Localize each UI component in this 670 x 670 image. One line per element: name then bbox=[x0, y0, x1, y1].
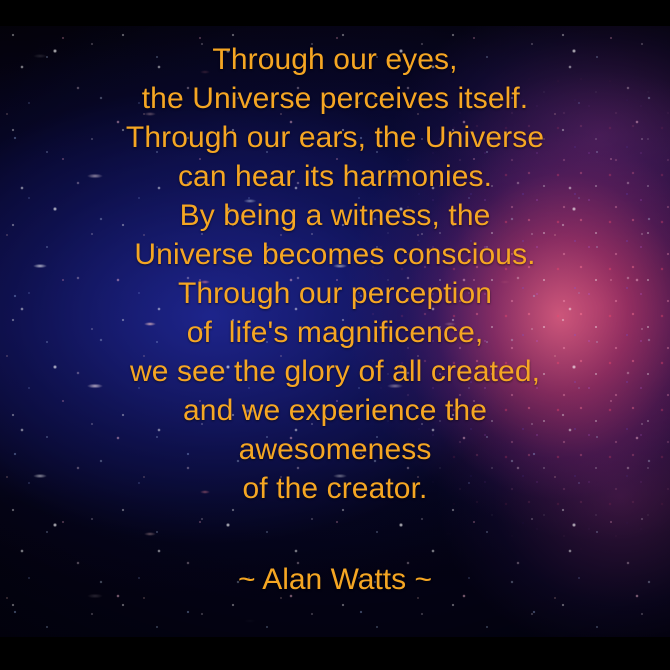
quote-line: we see the glory of all created, bbox=[0, 352, 670, 391]
quote-line: Through our perception bbox=[0, 274, 670, 313]
letterbox-bar-top bbox=[0, 0, 670, 26]
quote-line: of life's magnificence, bbox=[0, 313, 670, 352]
quote-attribution: ~ Alan Watts ~ bbox=[0, 560, 670, 599]
quote-line: Through our ears, the Universe bbox=[0, 118, 670, 157]
quote-line: awesomeness bbox=[0, 430, 670, 469]
letterbox-bar-bottom bbox=[0, 637, 670, 670]
quote-line: Universe becomes conscious. bbox=[0, 235, 670, 274]
quote-text-block: Through our eyes, the Universe perceives… bbox=[0, 40, 670, 508]
quote-line: of the creator. bbox=[0, 469, 670, 508]
quote-line: and we experience the bbox=[0, 391, 670, 430]
quote-line: By being a witness, the bbox=[0, 196, 670, 235]
quote-line: Through our eyes, bbox=[0, 40, 670, 79]
quote-poster: Through our eyes, the Universe perceives… bbox=[0, 0, 670, 670]
quote-line: the Universe perceives itself. bbox=[0, 79, 670, 118]
quote-line: can hear its harmonies. bbox=[0, 157, 670, 196]
